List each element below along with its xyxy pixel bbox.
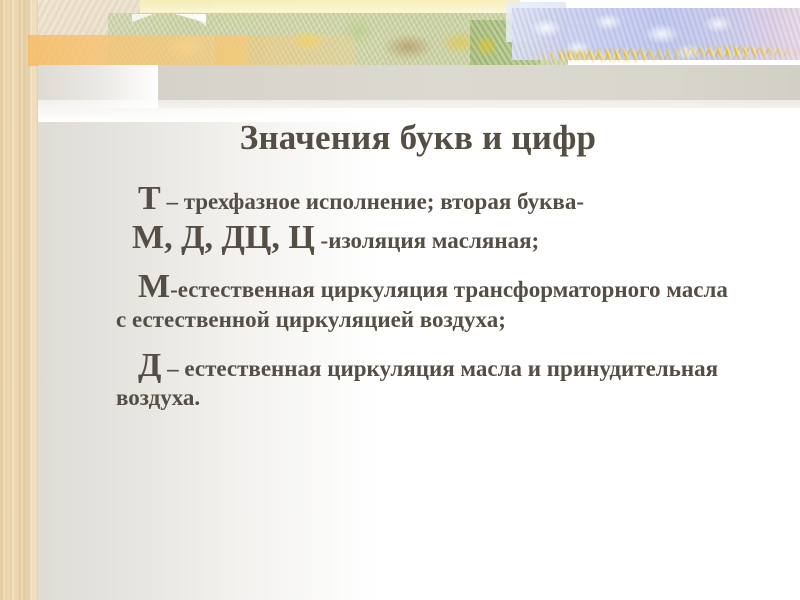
presentation-slide: Значения букв и цифр Т – трехфазное испо… [0,0,800,600]
body-paragraph-2: М, Д, ДЦ, Ц -изоляция масляная; [116,221,736,256]
paragraph-1-lead-letter: Т [138,180,161,217]
paragraph-2-text: -изоляция масляная; [315,228,539,253]
paragraph-2-lead-letter: М, Д, ДЦ, Ц [132,219,315,256]
paragraph-4-text: – естественная циркуляция масла и принуд… [116,356,718,411]
body-paragraph-3: М-естественная циркуляция трансформаторн… [116,270,736,335]
slide-content: Значения букв и цифр Т – трехфазное испо… [0,0,800,600]
slide-body: Т – трехфазное исполнение; вторая буква-… [116,182,736,413]
paragraph-3-lead-letter: М [116,268,170,305]
body-paragraph-1: Т – трехфазное исполнение; вторая буква- [116,182,736,217]
slide-title: Значения букв и цифр [118,120,718,157]
paragraph-3-text: -естественная циркуляция трансформаторно… [116,277,728,332]
paragraph-1-text: – трехфазное исполнение; вторая буква- [161,189,584,214]
body-paragraph-4: Д – естественная циркуляция масла и прин… [116,349,736,414]
paragraph-4-lead-letter: Д [116,347,161,384]
